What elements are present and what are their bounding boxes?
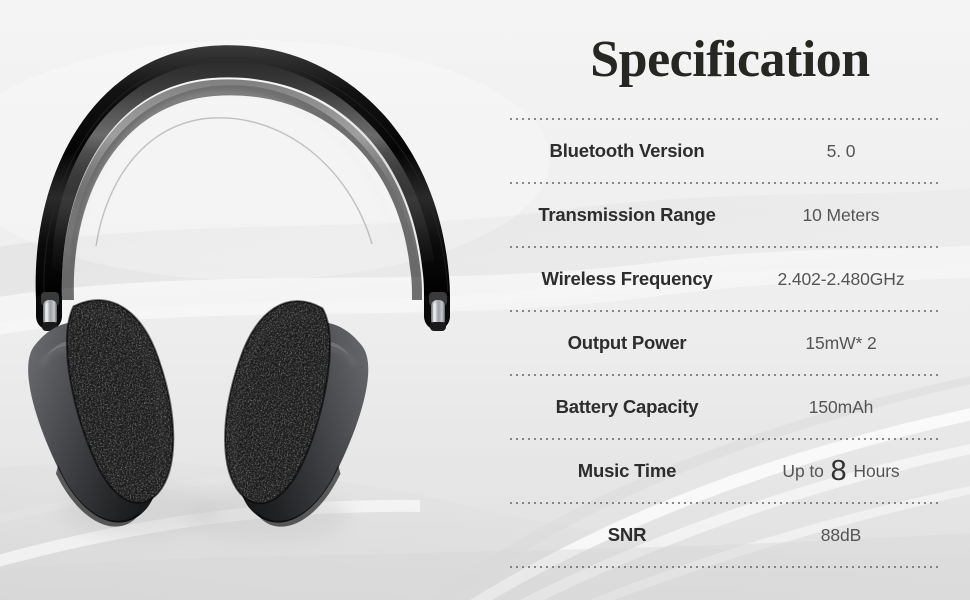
spec-label: Music Time — [508, 460, 746, 482]
table-row: Wireless Frequency 2.402-2.480GHz — [508, 248, 940, 310]
row-divider — [508, 118, 940, 120]
spec-value: 5. 0 — [746, 141, 940, 162]
spec-value: 88dB — [746, 525, 940, 546]
spec-value-music-time: Up to 8 Hours — [746, 455, 940, 488]
spec-label: Wireless Frequency — [508, 268, 746, 290]
table-row: Transmission Range 10 Meters — [508, 184, 940, 246]
music-time-suffix: Hours — [849, 461, 900, 481]
spec-label: Transmission Range — [508, 204, 746, 226]
spec-label: SNR — [508, 524, 746, 546]
row-divider — [508, 438, 940, 440]
spec-value: 150mAh — [746, 397, 940, 418]
row-divider — [508, 310, 940, 312]
right-stem-connector — [429, 292, 447, 331]
left-stem-connector — [41, 292, 59, 331]
specification-panel: Specification Bluetooth Version 5. 0 Tra… — [490, 0, 970, 600]
table-row: Output Power 15mW* 2 — [508, 312, 940, 374]
row-divider — [508, 374, 940, 376]
spec-value: 10 Meters — [746, 205, 940, 226]
table-row: SNR 88dB — [508, 504, 940, 566]
music-time-prefix: Up to — [782, 461, 828, 481]
row-divider — [508, 182, 940, 184]
page-title: Specification — [490, 34, 970, 86]
spec-label: Output Power — [508, 332, 746, 354]
spec-value: 2.402-2.480GHz — [746, 269, 940, 290]
row-divider — [508, 566, 940, 568]
product-image-headphones — [0, 0, 500, 600]
spec-label: Bluetooth Version — [508, 140, 746, 162]
product-spec-banner: Specification Bluetooth Version 5. 0 Tra… — [0, 0, 970, 600]
row-divider — [508, 246, 940, 248]
spec-label: Battery Capacity — [508, 396, 746, 418]
specification-table: Bluetooth Version 5. 0 Transmission Rang… — [508, 118, 940, 568]
table-row: Music Time Up to 8 Hours — [508, 440, 940, 502]
row-divider — [508, 502, 940, 504]
spec-value: 15mW* 2 — [746, 333, 940, 354]
table-row: Bluetooth Version 5. 0 — [508, 120, 940, 182]
headband — [36, 45, 450, 330]
music-time-hours-number: 8 — [829, 455, 849, 487]
table-row: Battery Capacity 150mAh — [508, 376, 940, 438]
